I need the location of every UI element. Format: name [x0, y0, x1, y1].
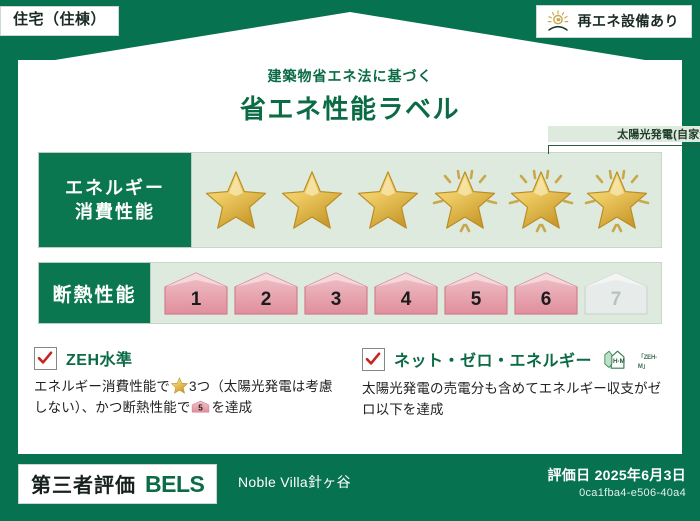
bels-certification-box: 第三者評価 BELS	[18, 464, 217, 504]
zeh-standard-body: エネルギー消費性能で3つ（太陽光発電は考慮しない）、かつ断熱性能で5を達成	[34, 377, 334, 419]
checkbox-checked-icon	[34, 347, 57, 370]
energy-key-line1: エネルギー	[65, 178, 165, 198]
insulation-levels-panel: 1 2 3 4	[151, 262, 662, 324]
zeh-standard-title: ZEH水準	[66, 346, 133, 370]
net-zero-energy-block: ネット・ゼロ・エネルギー H·M 「ZEH-M」 太陽光発電の売電分も含めてエネ…	[362, 346, 662, 421]
net-zero-title: ネット・ゼロ・エネルギー	[394, 347, 592, 371]
house-badge-icon: 5	[191, 399, 210, 414]
sparkle-icon	[580, 163, 654, 237]
energy-performance-row: エネルギー 消費性能 太陽光発電(自家消費)分	[38, 152, 662, 248]
insulation-level-6: 6	[511, 270, 581, 316]
insulation-level-number: 6	[541, 289, 552, 316]
title-subtitle: 建築物省エネ法に基づく	[0, 66, 700, 86]
insulation-level-number: 3	[331, 289, 342, 316]
checkbox-checked-icon	[362, 348, 385, 371]
energy-stars-panel: 太陽光発電(自家消費)分	[192, 152, 662, 248]
renewable-badge-label: 再エネ設備あり	[578, 11, 680, 31]
title-block: 建築物省エネ法に基づく 省エネ性能ラベル	[0, 66, 700, 126]
insulation-level-number: 2	[261, 289, 272, 316]
evaluation-date: 評価日 2025年6月3日	[547, 465, 686, 485]
evaluation-date-block: 評価日 2025年6月3日 0ca1fba4-e506-40a4	[547, 465, 686, 499]
insulation-level-4: 4	[371, 270, 441, 316]
star-icon	[357, 169, 419, 231]
energy-key-line2: 消費性能	[75, 202, 155, 222]
star-slot-1	[201, 165, 271, 235]
insulation-level-1: 1	[161, 270, 231, 316]
evaluation-id: 0ca1fba4-e506-40a4	[547, 487, 686, 499]
bels-jp-label: 第三者評価	[31, 469, 136, 498]
zeh-body-post: を達成	[211, 400, 252, 415]
energy-performance-label: 住宅（住棟） 再エネ設備あり 建築物省エネ法に基づく	[0, 0, 700, 521]
star-icon	[205, 169, 267, 231]
sparkle-icon	[504, 163, 578, 237]
zeh-body-pre: エネルギー消費性能で	[34, 379, 170, 394]
zeh-m-caption: 「ZEH-M」	[638, 352, 663, 372]
renewable-equipment-badge: 再エネ設備あり	[536, 5, 693, 38]
zeh-m-house-icon: H·M	[602, 346, 636, 372]
zeh-standard-block: ZEH水準 エネルギー消費性能で3つ（太陽光発電は考慮しない）、かつ断熱性能で5…	[34, 346, 334, 419]
sparkle-icon	[428, 163, 502, 237]
footer-bar: 第三者評価 BELS Noble Villa針ヶ谷 評価日 2025年6月3日 …	[0, 458, 700, 521]
insulation-level-number: 5	[471, 289, 482, 316]
insulation-level-3: 3	[301, 270, 371, 316]
house-type-tag: 住宅（住棟）	[0, 6, 119, 36]
star-slot-2	[277, 165, 347, 235]
energy-performance-label-key: エネルギー 消費性能	[38, 152, 192, 248]
star-slot-5-solar	[506, 165, 576, 235]
insulation-level-number: 7	[611, 289, 622, 316]
insulation-level-7: 7	[581, 270, 651, 316]
bels-en-label: BELS	[145, 471, 204, 498]
insulation-level-5: 5	[441, 270, 511, 316]
svg-text:H·M: H·M	[613, 358, 625, 365]
net-zero-body: 太陽光発電の売電分も含めてエネルギー収支がゼロ以下を達成	[362, 379, 662, 421]
star-slot-4-solar	[430, 165, 500, 235]
insulation-level-number: 4	[401, 289, 412, 316]
insulation-level-number: 1	[191, 289, 202, 316]
zeh-standard-header: ZEH水準	[34, 346, 334, 370]
star-slot-3	[353, 165, 423, 235]
insulation-performance-row: 断熱性能 1 2	[38, 262, 662, 324]
svg-text:5: 5	[199, 403, 204, 412]
zeh-m-logo: H·M 「ZEH-M」	[602, 346, 663, 372]
star-icon	[171, 377, 188, 394]
insulation-level-2: 2	[231, 270, 301, 316]
building-name: Noble Villa針ヶ谷	[238, 472, 351, 492]
net-zero-header: ネット・ゼロ・エネルギー H·M 「ZEH-M」	[362, 346, 662, 372]
sun-icon	[545, 10, 571, 32]
star-slot-6-solar	[582, 165, 652, 235]
title-main: 省エネ性能ラベル	[0, 89, 700, 126]
insulation-label-key: 断熱性能	[38, 262, 151, 324]
star-icon	[281, 169, 343, 231]
